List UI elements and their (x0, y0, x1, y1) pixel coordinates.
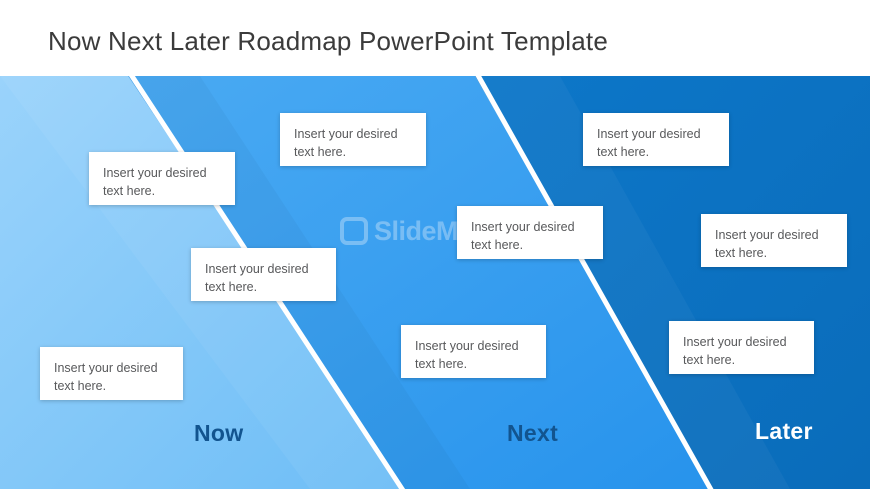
callout-box[interactable]: Insert your desired text here. (280, 113, 426, 166)
callout-box[interactable]: Insert your desired text here. (669, 321, 814, 374)
callout-box[interactable]: Insert your desired text here. (583, 113, 729, 166)
phase-label-now: Now (194, 420, 243, 447)
callout-box[interactable]: Insert your desired text here. (701, 214, 847, 267)
title-bar: Now Next Later Roadmap PowerPoint Templa… (0, 0, 870, 76)
callout-box[interactable]: Insert your desired text here. (457, 206, 603, 259)
page-title: Now Next Later Roadmap PowerPoint Templa… (48, 26, 608, 57)
callout-text: Insert your desired text here. (205, 260, 322, 296)
callout-box[interactable]: Insert your desired text here. (401, 325, 546, 378)
callout-text: Insert your desired text here. (294, 125, 412, 161)
callout-text: Insert your desired text here. (715, 226, 833, 262)
callout-text: Insert your desired text here. (471, 218, 589, 254)
callout-box[interactable]: Insert your desired text here. (40, 347, 183, 400)
roadmap-bands (0, 76, 870, 489)
phase-label-later: Later (755, 418, 813, 445)
callout-text: Insert your desired text here. (415, 337, 532, 373)
callout-box[interactable]: Insert your desired text here. (89, 152, 235, 205)
slide-canvas: Now Next Later Roadmap PowerPoint Templa… (0, 0, 870, 489)
phase-label-next: Next (507, 420, 558, 447)
callout-box[interactable]: Insert your desired text here. (191, 248, 336, 301)
callout-text: Insert your desired text here. (103, 164, 221, 200)
callout-text: Insert your desired text here. (597, 125, 715, 161)
callout-text: Insert your desired text here. (54, 359, 169, 395)
callout-text: Insert your desired text here. (683, 333, 800, 369)
